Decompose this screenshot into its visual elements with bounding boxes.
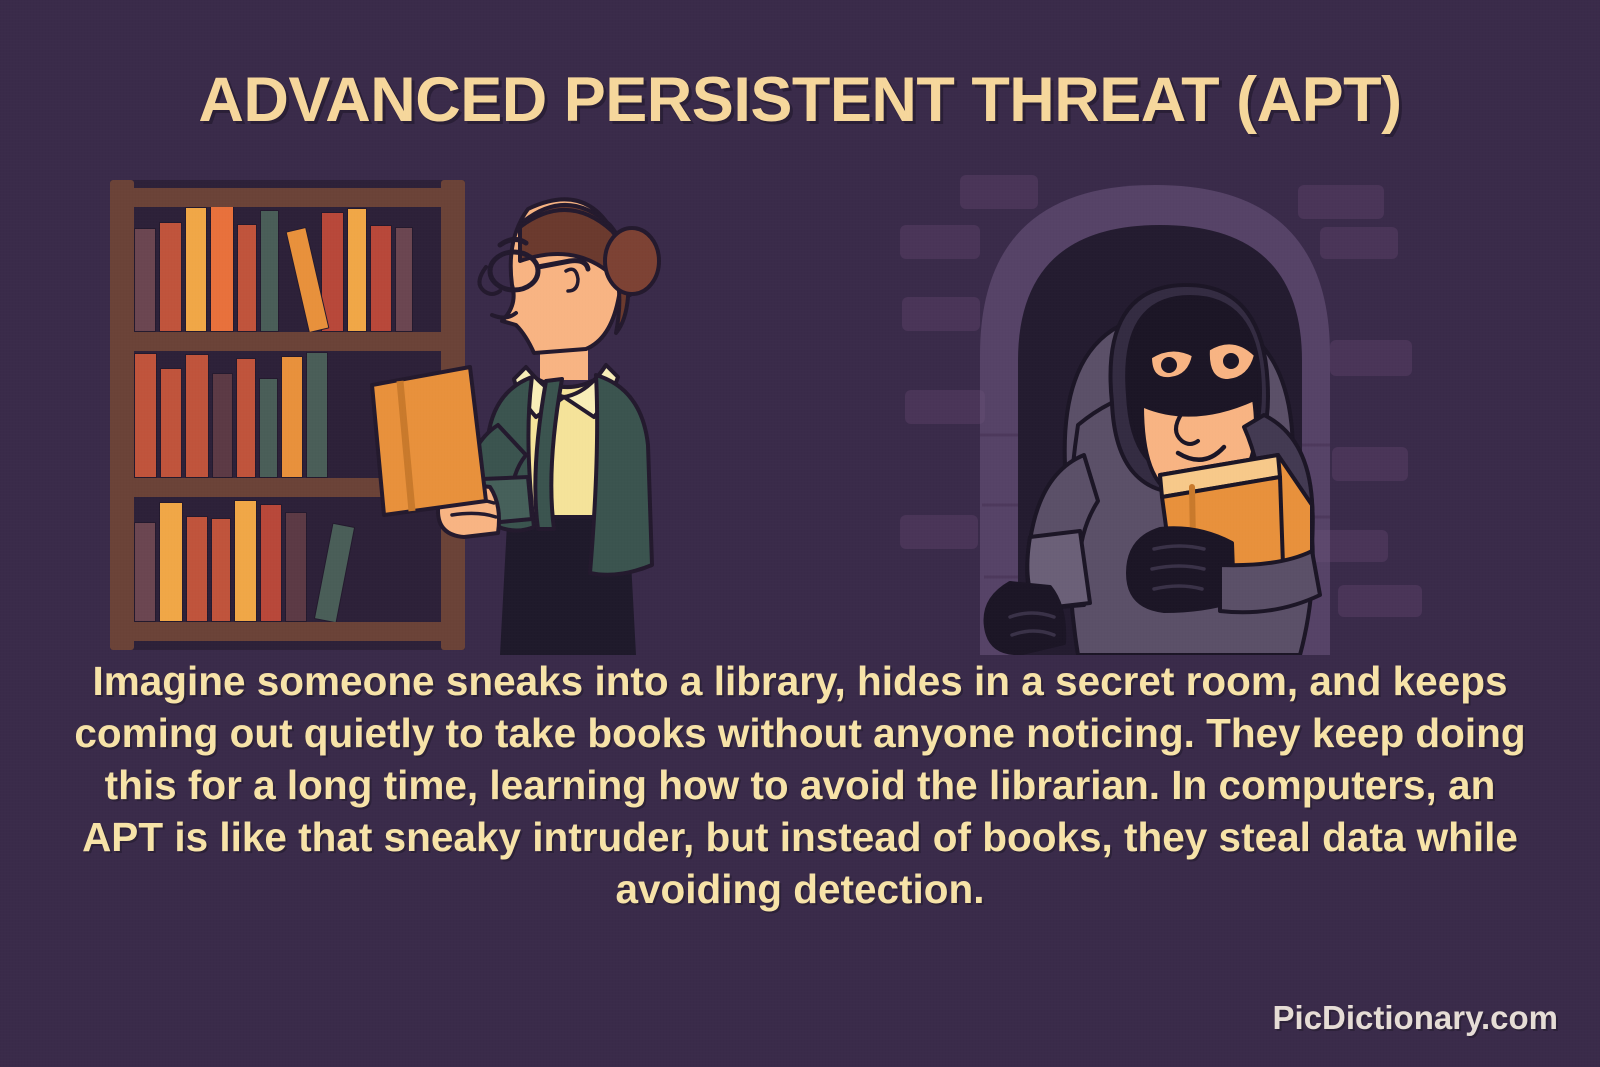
book-spine [314,523,355,624]
illustration-librarian-at-bookshelf [100,165,720,655]
shelf-plank [129,332,446,351]
book-spine [370,225,392,332]
book-spine [186,516,208,622]
watermark-label: PicDictionary.com [1273,999,1558,1037]
book-spine [159,222,182,332]
illustration-masked-intruder [860,165,1500,655]
book-spine [134,353,157,478]
book-spine [285,512,307,622]
book-spine [185,207,207,332]
page-title: ADVANCED PERSISTENT THREAT (APT) [0,64,1600,136]
librarian-book-icon [362,361,492,521]
book-spine [260,210,279,332]
infographic-page: { "title": "ADVANCED PERSISTENT THREAT (… [0,0,1600,1067]
book-spine [185,354,209,478]
shelf-post-left [110,180,134,650]
shelf-plank [129,622,446,641]
description-text: Imagine someone sneaks into a library, h… [70,655,1530,915]
book-spine [281,356,303,478]
book-spine [159,502,183,622]
book-spine [160,368,182,478]
illustration-band [0,165,1600,655]
book-spine [237,224,257,332]
book-spine [210,204,234,332]
bookshelf-row-top [134,207,442,332]
shelf-plank [129,188,446,207]
book-spine [134,522,156,622]
book-spine [234,500,257,622]
book-spine [306,352,328,478]
book-spine [259,378,278,478]
book-spine [260,504,282,622]
book-spine [212,373,233,478]
book-spine [347,208,367,332]
book-spine [236,358,256,478]
book-spine [211,518,231,622]
book-spine [134,228,156,332]
doorway-and-intruder [860,165,1500,655]
book-spine [395,227,413,332]
